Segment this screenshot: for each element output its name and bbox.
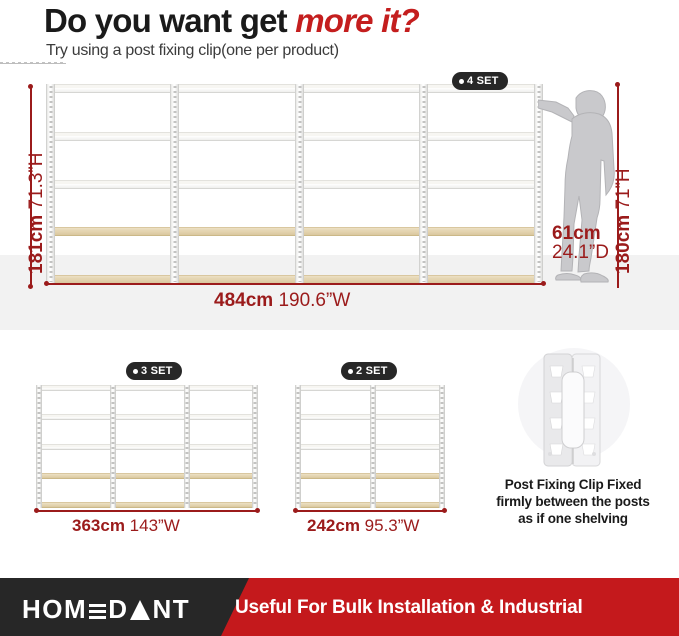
two-set-width-metric: 242cm xyxy=(307,516,360,535)
logo-glyph: H xyxy=(22,594,42,624)
main-depth-metric: 61cm xyxy=(552,224,609,243)
dimension-label-2-set-width: 242cm 95.3”W xyxy=(307,516,419,536)
shelf-board-wood xyxy=(36,473,258,479)
post-perforation-pattern xyxy=(173,86,176,282)
depth-guide-bottom xyxy=(0,63,66,64)
shelf-board-metal xyxy=(36,414,258,420)
logo-glyph: O xyxy=(42,594,64,624)
headline-black-text: Do you want get xyxy=(44,2,295,39)
main-width-metric: 484cm xyxy=(214,290,273,311)
logo-glyph: M xyxy=(64,594,87,624)
post-perforation-pattern xyxy=(422,86,425,282)
page-title: Do you want get more it? xyxy=(44,2,419,40)
shelving-unit-3-set xyxy=(36,385,258,508)
dimension-dot-3-set-start xyxy=(34,508,39,513)
shelving-post xyxy=(170,84,179,284)
shelf-board-metal xyxy=(36,444,258,450)
shelf-board-metal xyxy=(36,385,258,391)
post-perforation-pattern xyxy=(38,387,41,506)
post-perforation-pattern xyxy=(49,86,52,282)
main-width-imperial: 190.6”W xyxy=(278,290,350,311)
shelving-post xyxy=(36,385,42,508)
page-subtitle: Try using a post fixing clip(one per pro… xyxy=(46,42,339,60)
shelving-post xyxy=(370,385,376,508)
logo-glyph: T xyxy=(173,594,190,624)
logo-glyph-a-triangle xyxy=(130,600,150,620)
person-height-metric: 180cm xyxy=(613,215,634,274)
main-height-metric: 181cm xyxy=(26,215,47,274)
three-set-width-metric: 363cm xyxy=(72,516,125,535)
header-section: Do you want get more it? Try using a pos… xyxy=(0,0,679,62)
shelving-post xyxy=(295,385,301,508)
shelving-post xyxy=(419,84,428,284)
footer-bar: HOMDNT Useful For Bulk Installation & In… xyxy=(0,578,679,636)
badge-2-set-label: 2 SET xyxy=(356,365,388,377)
shelf-front-edge xyxy=(36,388,258,391)
post-fixing-clip-panel: Post Fixing Clip Fixed firmly between th… xyxy=(478,348,668,548)
dimension-label-3-set-width: 363cm 143”W xyxy=(72,516,180,536)
shelving-unit-4-set xyxy=(46,84,543,284)
shelf-front-edge xyxy=(36,447,258,450)
infographic-page: Do you want get more it? Try using a pos… xyxy=(0,0,679,636)
person-height-imperial: 71”H xyxy=(613,168,634,209)
badge-dot-icon xyxy=(348,369,353,374)
clip-caption-line-2: firmly between the posts xyxy=(478,493,668,510)
post-perforation-pattern xyxy=(298,86,301,282)
brand-logo-text: HOMDNT xyxy=(22,594,190,625)
dimension-line-width-bottom xyxy=(46,283,544,285)
shelf-front-edge xyxy=(36,476,258,479)
shelving-unit-2-set xyxy=(295,385,445,508)
main-depth-imperial: 24.1”D xyxy=(552,243,609,262)
main-product-stage: 4 SET 181cm 71.3”H 484cm 190 xyxy=(0,62,679,330)
main-height-imperial: 71.3”H xyxy=(26,153,47,210)
shelving-post xyxy=(110,385,116,508)
dimension-label-main-depth: 61cm 24.1”D xyxy=(552,224,609,262)
shelving-post xyxy=(252,385,258,508)
dimension-dot-2-set-start xyxy=(293,508,298,513)
dimension-line-2-set-width xyxy=(295,510,445,512)
secondary-sets-section: 3 SET 363cm 143”W 2 SET 242cm 95.3”W xyxy=(0,330,679,575)
shelf-front-edge xyxy=(36,505,258,508)
dimension-dot-person-top xyxy=(615,82,620,87)
post-perforation-pattern xyxy=(372,387,375,506)
post-perforation-pattern xyxy=(297,387,300,506)
dimension-dot-bottom-left xyxy=(28,284,33,289)
badge-2-set: 2 SET xyxy=(341,362,397,380)
dimension-label-main-width: 484cm 190.6”W xyxy=(214,290,350,312)
shelving-post xyxy=(295,84,304,284)
shelving-post xyxy=(184,385,190,508)
badge-4-set: 4 SET xyxy=(452,72,508,90)
shelving-post xyxy=(439,385,445,508)
dimension-dot-bottom-end xyxy=(541,281,546,286)
dimension-line-3-set-width xyxy=(36,510,258,512)
dimension-dot-3-set-end xyxy=(255,508,260,513)
dimension-dot-bottom-start xyxy=(44,281,49,286)
badge-dot-icon xyxy=(133,369,138,374)
logo-glyph: D xyxy=(108,594,128,624)
post-perforation-pattern xyxy=(186,387,189,506)
clip-caption-line-1: Post Fixing Clip Fixed xyxy=(478,476,668,493)
badge-dot-icon xyxy=(459,79,464,84)
three-set-width-imperial: 143”W xyxy=(130,516,180,535)
dimension-dot-top-left xyxy=(28,84,33,89)
post-perforation-pattern xyxy=(441,387,444,506)
badge-3-set-label: 3 SET xyxy=(141,365,173,377)
post-fixing-clip-icon xyxy=(518,348,630,470)
footer-tagline: Useful For Bulk Installation & Industria… xyxy=(235,597,583,619)
dimension-label-person-height: 180cm 71”H xyxy=(613,168,635,274)
post-perforation-pattern xyxy=(254,387,257,506)
badge-3-set: 3 SET xyxy=(126,362,182,380)
shelf-board-wood xyxy=(36,502,258,508)
shelf-front-edge xyxy=(36,417,258,420)
post-perforation-pattern xyxy=(112,387,115,506)
dimension-dot-2-set-end xyxy=(442,508,447,513)
clip-caption: Post Fixing Clip Fixed firmly between th… xyxy=(478,476,668,527)
badge-4-set-label: 4 SET xyxy=(467,75,499,87)
clip-caption-line-3: as if one shelving xyxy=(478,510,668,527)
brand-logo: HOMDNT xyxy=(22,594,190,625)
two-set-width-imperial: 95.3”W xyxy=(365,516,420,535)
logo-glyph-e-bars xyxy=(89,602,106,621)
logo-glyph: N xyxy=(152,594,172,624)
dimension-label-main-height: 181cm 71.3”H xyxy=(26,153,48,274)
headline-red-text: more it? xyxy=(295,2,419,39)
